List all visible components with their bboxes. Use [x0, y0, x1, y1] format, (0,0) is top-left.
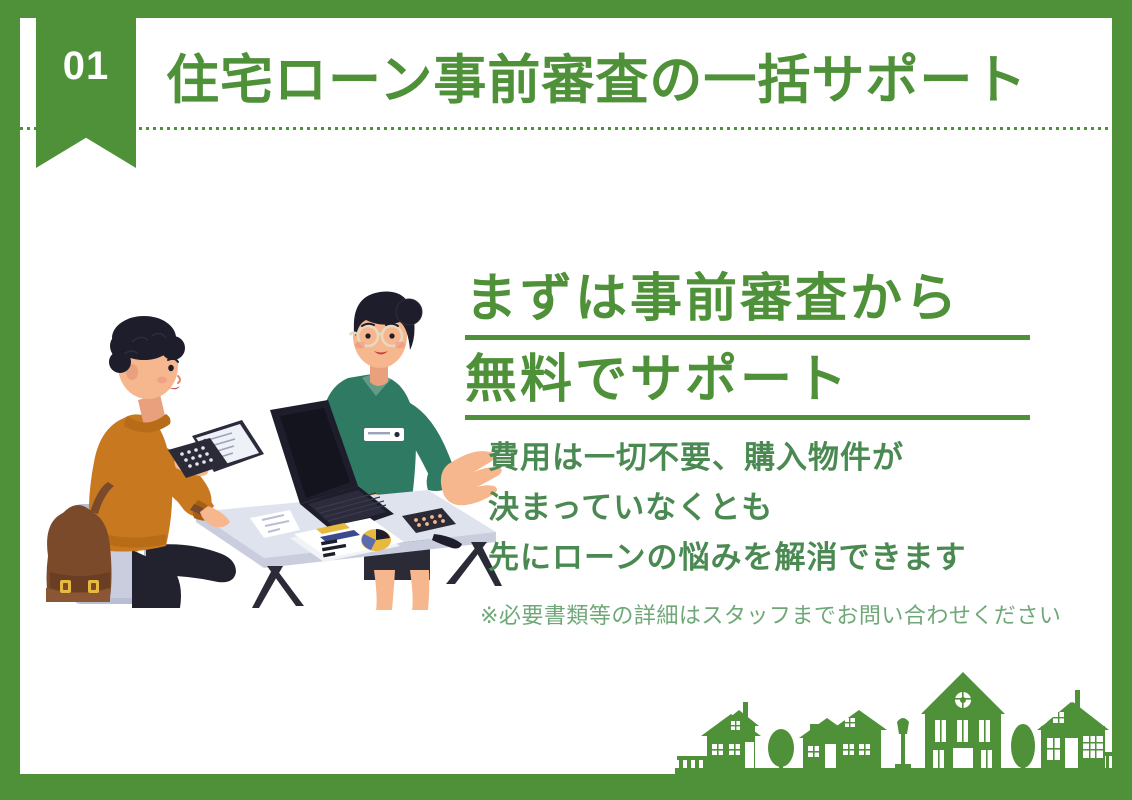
section-number-ribbon: 01 — [36, 18, 136, 168]
header-divider-dotted-line — [20, 127, 1112, 130]
section-number-label: 01 — [36, 46, 136, 86]
body-copy-block: 費用は一切不要、購入物件が 決まっていなくとも 先にローンの悩みを解消できます — [488, 433, 1048, 584]
page-title: 住宅ローン事前審査の一括サポート — [166, 52, 1027, 110]
slide-frame: 01 住宅ローン事前審査の一括サポート — [0, 0, 1132, 800]
headline-line-2: 無料でサポート — [465, 347, 1030, 421]
body-line-2: 決まっていなくとも — [488, 483, 1048, 533]
headline-line-1: まずは事前審査から — [465, 266, 1030, 340]
body-line-1: 費用は一切不要、購入物件が — [488, 433, 1048, 483]
headline-block: まずは事前審査から 無料でサポート — [465, 266, 1045, 427]
name-badge-icon — [364, 428, 404, 441]
houses-skyline — [675, 664, 1112, 774]
slide-canvas: 01 住宅ローン事前審査の一括サポート — [20, 18, 1112, 774]
footnote-text: ※必要書類等の詳細はスタッフまでお問い合わせください — [480, 598, 1061, 630]
loan-consultation-illustration — [28, 250, 508, 610]
body-line-3: 先にローンの悩みを解消できます — [488, 533, 1048, 583]
